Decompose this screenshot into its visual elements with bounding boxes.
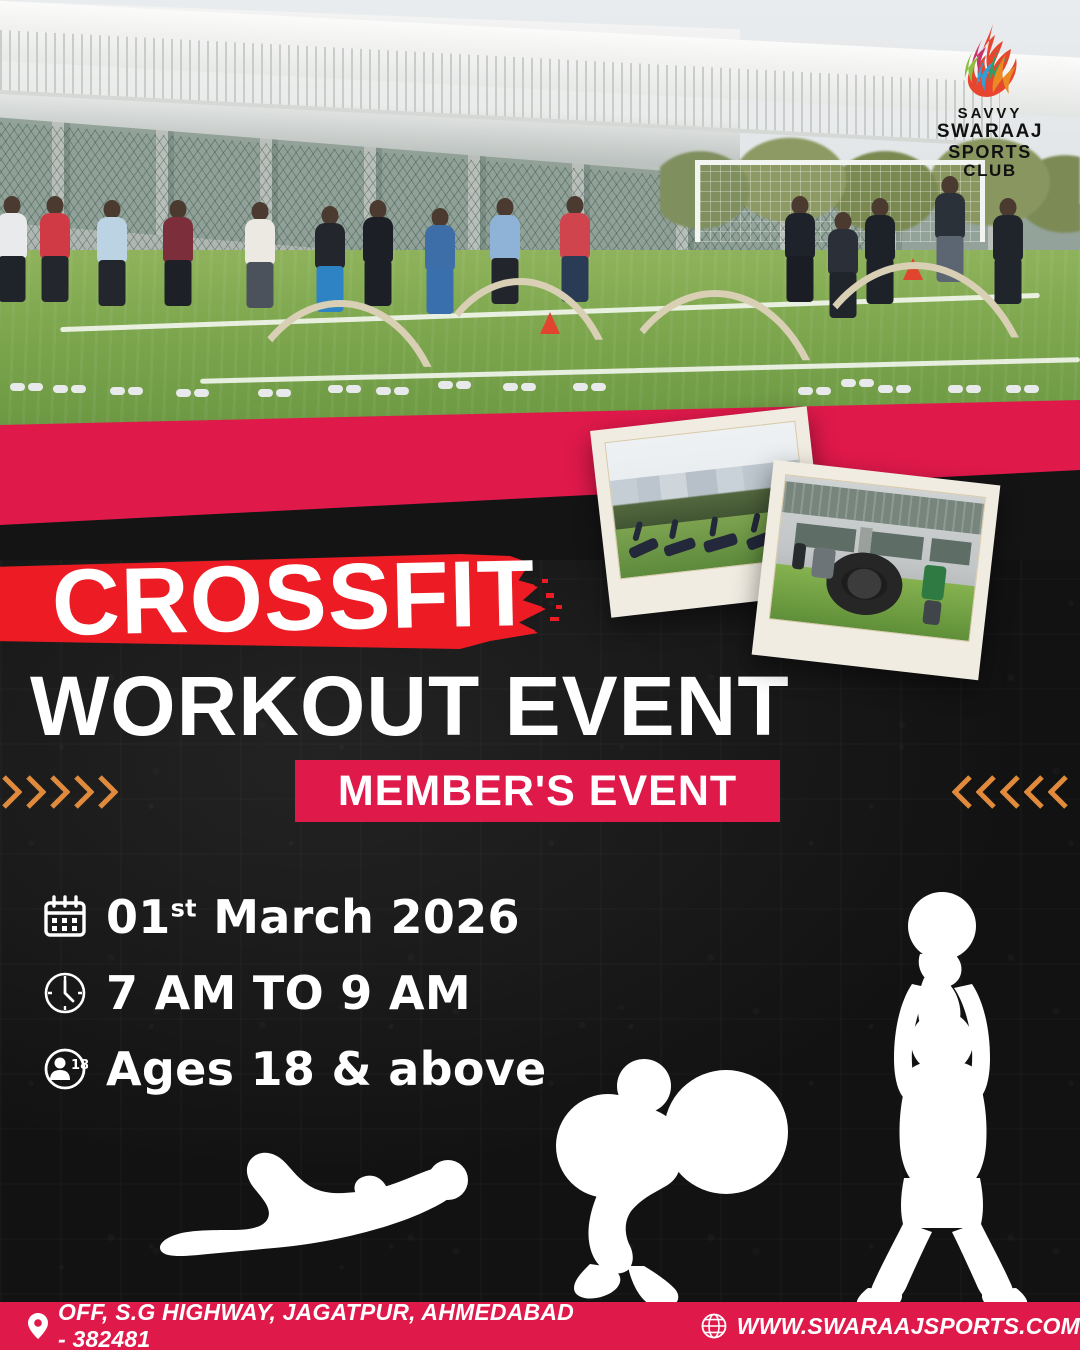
clock-icon: [42, 970, 88, 1016]
flame-logo-icon: [959, 22, 1021, 100]
title-line-2: WORKOUT EVENT: [30, 664, 790, 748]
detail-row-age: 18+ Ages 18 & above: [42, 1042, 547, 1096]
event-day: 01: [106, 890, 171, 944]
event-poster: SAVVY SWARAAJ SPORTS CLUB: [0, 0, 1080, 1350]
footer-bar: OFF, S.G HIGHWAY, JAGATPUR, AHMEDABAD - …: [0, 1302, 1080, 1350]
chevron-right-icon: [98, 775, 118, 809]
event-date: 01st March 2026: [106, 890, 520, 944]
polaroid-photo-tire-flip: [752, 460, 1001, 681]
chevron-right-icon: [2, 775, 22, 809]
chevron-right-icon: [74, 775, 94, 809]
chevron-left-icon: [1000, 775, 1020, 809]
chevrons-right: [952, 775, 1068, 809]
logo-line-2: SWARAAJ: [920, 122, 1060, 143]
chevron-right-icon: [50, 775, 70, 809]
chevron-right-icon: [26, 775, 46, 809]
detail-row-date: 01st March 2026: [42, 890, 547, 944]
website-text: WWW.SWARAAJSPORTS.COM: [737, 1313, 1080, 1340]
chevrons-left: [2, 775, 118, 809]
svg-text:18+: 18+: [71, 1058, 88, 1073]
coach-legs: [922, 600, 942, 626]
hero-photo: [0, 0, 1080, 470]
title-line-1: CROSSFIT: [51, 546, 536, 650]
event-details-list: 01st March 2026 7 AM TO 9 AM 18+ Ages 18…: [42, 890, 547, 1118]
event-age-limit: Ages 18 & above: [106, 1042, 547, 1096]
event-time: 7 AM TO 9 AM: [106, 966, 471, 1020]
chevron-left-icon: [976, 775, 996, 809]
members-event-badge: MEMBER'S EVENT: [295, 760, 780, 822]
logo-wordmark: SAVVY SWARAAJ SPORTS CLUB: [920, 106, 1060, 181]
footer-address: OFF, S.G HIGHWAY, JAGATPUR, AHMEDABAD - …: [28, 1299, 581, 1350]
calendar-icon: [42, 894, 88, 940]
event-month-year: March 2026: [197, 890, 520, 944]
footer-website[interactable]: WWW.SWARAAJSPORTS.COM: [701, 1313, 1080, 1340]
overhead-press-athlete-silhouette: [820, 892, 1065, 1312]
globe-icon: [701, 1313, 727, 1339]
detail-row-time: 7 AM TO 9 AM: [42, 966, 547, 1020]
club-logo: SAVVY SWARAAJ SPORTS CLUB: [920, 22, 1060, 181]
athlete: [811, 547, 836, 579]
date-ordinal: st: [171, 895, 197, 923]
chevron-left-icon: [1024, 775, 1044, 809]
situp-athlete-silhouette: [148, 1138, 478, 1258]
front-squat-athlete-silhouette: [530, 1014, 800, 1314]
location-pin-icon: [28, 1313, 48, 1339]
logo-line-3: SPORTS: [920, 143, 1060, 162]
age-18-plus-icon: 18+: [42, 1046, 88, 1092]
chevron-left-icon: [952, 775, 972, 809]
members-event-label: MEMBER'S EVENT: [338, 767, 737, 816]
logo-line-4: CLUB: [920, 162, 1060, 180]
logo-line-1: SAVVY: [920, 106, 1060, 122]
coach: [921, 564, 947, 600]
chevron-left-icon: [1048, 775, 1068, 809]
address-text: OFF, S.G HIGHWAY, JAGATPUR, AHMEDABAD - …: [58, 1299, 581, 1350]
